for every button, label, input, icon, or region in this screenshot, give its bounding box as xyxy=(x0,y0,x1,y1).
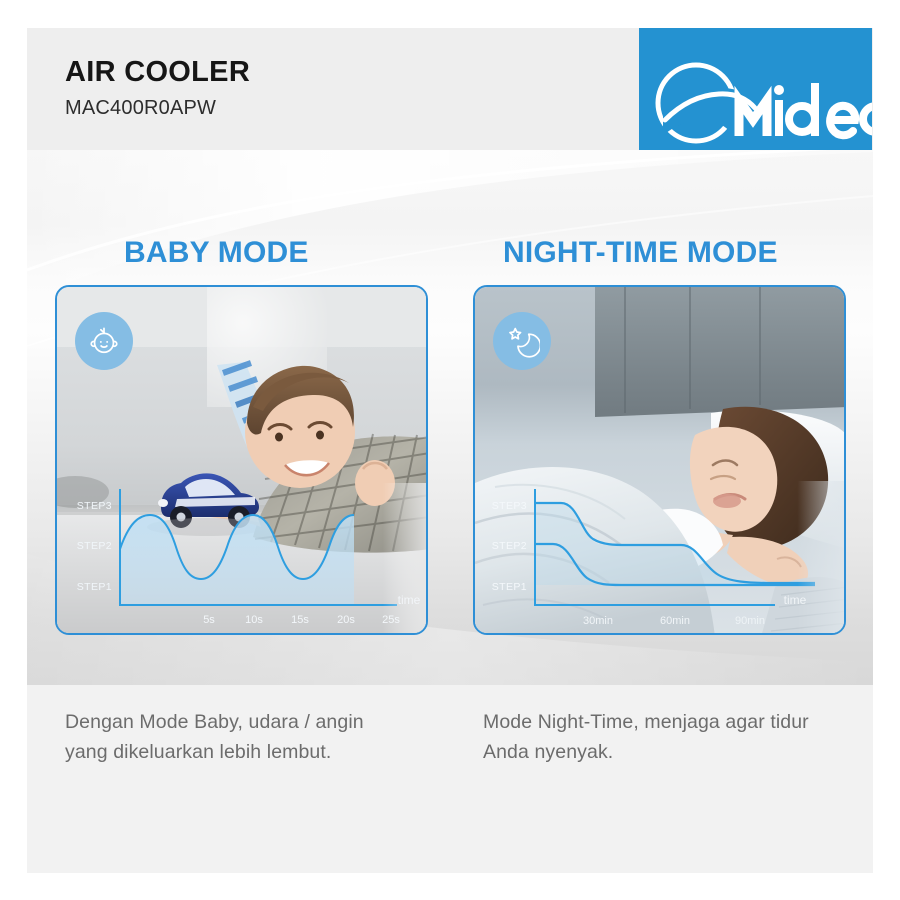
page-title: AIR COOLER xyxy=(65,58,250,87)
chart-xtick-15s: 15s xyxy=(291,614,309,626)
chart-xtick-5s: 5s xyxy=(203,614,215,626)
chart-xtick-20s: 20s xyxy=(337,614,355,626)
header-bar: AIR COOLER MAC400R0APW xyxy=(27,28,873,150)
chart-xtick-90min: 90min xyxy=(735,615,765,627)
chart-night-mode: STEP3 STEP2 STEP1 30min 60min 90min time xyxy=(475,473,846,633)
chart-xtick-25s: 25s xyxy=(382,614,400,626)
product-model-number: MAC400R0APW xyxy=(65,98,216,118)
chart-xtick-60min: 60min xyxy=(660,615,690,627)
chart-ytick-step1: STEP1 xyxy=(492,581,527,593)
chart-xaxis-label: time xyxy=(784,593,807,607)
chart-ytick-step2: STEP2 xyxy=(77,540,112,552)
chart-baby-mode: STEP3 STEP2 STEP1 5s 10s 15s 20s 25s tim… xyxy=(57,473,428,633)
chart-xtick-30min: 30min xyxy=(583,615,613,627)
moon-star-icon xyxy=(504,323,540,359)
chart-ytick-step3: STEP3 xyxy=(492,500,527,512)
caption-strip: Dengan Mode Baby, udara / angin yang dik… xyxy=(27,685,873,873)
feature-card-night[interactable]: STEP3 STEP2 STEP1 30min 60min 90min time xyxy=(473,285,846,635)
chart-ytick-step1: STEP1 xyxy=(77,581,112,593)
caption-baby-mode: Dengan Mode Baby, udara / angin yang dik… xyxy=(65,707,405,767)
caption-night-mode: Mode Night-Time, menjaga agar tidur Anda… xyxy=(483,707,833,767)
badge-baby-mode xyxy=(75,312,133,370)
chart-xtick-10s: 10s xyxy=(245,614,263,626)
chart-ytick-step2: STEP2 xyxy=(492,540,527,552)
feature-panel: BABY MODE NIGHT-TIME MODE xyxy=(27,150,873,685)
badge-night-mode xyxy=(493,312,551,370)
chart-ytick-step3: STEP3 xyxy=(77,500,112,512)
mode-title-baby: BABY MODE xyxy=(124,238,309,268)
chart-xaxis-label: time xyxy=(398,593,421,607)
baby-face-icon xyxy=(86,323,122,359)
product-infographic-page: AIR COOLER MAC400R0APW xyxy=(0,0,900,900)
feature-card-baby[interactable]: STEP3 STEP2 STEP1 5s 10s 15s 20s 25s tim… xyxy=(55,285,428,635)
mode-title-night: NIGHT-TIME MODE xyxy=(503,238,778,268)
